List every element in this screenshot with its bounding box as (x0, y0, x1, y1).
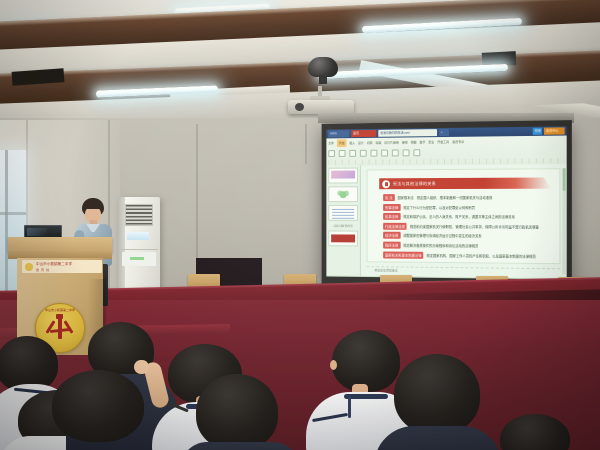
bold-icon[interactable] (349, 150, 356, 157)
row-tag: 行政法律法规 (383, 223, 407, 230)
slide-canvas[interactable]: 宪法与其他法律的关系 宪 法 国家根本法 规定国人组织、根本制度和一切国家机关与… (361, 164, 567, 278)
slide-thumbnail-2[interactable] (328, 186, 358, 202)
font-icon[interactable] (339, 150, 346, 157)
slide-row: 国家机关和基本制度法律 规定国家机构、国家工作人员的产生和职权，以及国家基本制度… (383, 251, 549, 259)
row-tag: 刑事法律 (383, 204, 400, 211)
projector-lens-icon (295, 103, 304, 111)
student-head-7 (332, 330, 400, 392)
ribbon-toolbar-icons (328, 145, 564, 159)
auditorium-photo: WPS 首页 法治与我们的生活.pptx + 登录 会员中心 文件 开始 插入 … (0, 0, 600, 450)
row-tag: 国家机关和基本制度法律 (383, 251, 423, 258)
ribbon-tab-member[interactable]: 会员专享 (452, 138, 464, 146)
ac-status-led (130, 257, 144, 260)
projected-desktop: WPS 首页 法治与我们的生活.pptx + 登录 会员中心 文件 开始 插入 … (326, 126, 566, 279)
ribbon-tab-file[interactable]: 文件 (328, 139, 334, 147)
projection-screen: WPS 首页 法治与我们的生活.pptx + 登录 会员中心 文件 开始 插入 … (322, 120, 572, 292)
audience (0, 318, 600, 450)
student-head-9 (500, 414, 570, 450)
current-slide: 宪法与其他法律的关系 宪 法 国家根本法 规定国人组织、根本制度和一切国家机关与… (367, 168, 561, 264)
slide-thumbnail-1[interactable] (328, 168, 358, 184)
row-text: 规定国家机构、国家工作人员的产生和职权，以及国家基本制度的法律规范 (426, 252, 535, 258)
podium-department: 德 育 处 (36, 268, 72, 272)
student-head-4 (52, 370, 144, 442)
tab-signin[interactable]: 登录 (533, 128, 542, 135)
ribbon-tab-devtools[interactable]: 开发工具 (437, 138, 449, 146)
slide-row: 民事法律 规定和保护公民、法人的人身关系、财产关系，调整平等主体之间的法律关系 (383, 213, 549, 220)
row-tag: 经济法律 (383, 232, 400, 239)
student-head-8 (394, 354, 480, 434)
slide-content-rows: 宪 法 国家根本法 规定国人组织、根本制度和一切国家机关与活动准则 刑事法律 规… (373, 194, 553, 260)
podium-seal-small-icon (25, 263, 33, 271)
student-shoulders-6 (180, 442, 300, 450)
slide-thumbnail-4[interactable] (328, 230, 358, 246)
row-text: 调整国家在管理与协调经济运行过程中发生的经济关系 (403, 233, 481, 238)
row-text: 规范和约束国家机关行使职权、管理社会公共事务，保障公民合法权益不受行政机关侵害 (410, 224, 539, 229)
thumbnail-caption: 法治与我们的生活 (328, 224, 358, 228)
podium-name-plate: 中山市小榄镇第二中学 德 育 处 (22, 260, 102, 273)
editor-body: 法治与我们的生活 宪法与其他法律的关系 宪 法 国家根本法 规定国人组织、根本制… (326, 164, 566, 278)
slide-row: 经济法律 调整国家在管理与协调经济运行过程中发生的经济关系 (383, 232, 549, 240)
slide-row: 行政法律法规 规范和约束国家机关行使职权、管理社会公共事务，保障公民合法权益不受… (383, 223, 549, 231)
slide-row: 宪 法 国家根本法 规定国人组织、根本制度和一切国家机关与活动准则 (383, 194, 549, 201)
ribbon-tab-security[interactable]: 安全 (428, 138, 434, 146)
ribbon-tab-animation[interactable]: 动画 (375, 139, 381, 147)
slide-title: 宪法与其他法律的关系 (393, 181, 436, 187)
tab-new[interactable]: + (439, 129, 449, 136)
find-icon[interactable] (413, 149, 420, 156)
ac-vent-grill-icon (125, 204, 153, 226)
dome-security-camera-icon (306, 57, 340, 87)
slide-title-banner: 宪法与其他法律的关系 (379, 177, 551, 189)
lanyard (348, 396, 351, 418)
slide-thumbnail-panel[interactable]: 法治与我们的生活 (326, 166, 360, 276)
student-head-6 (196, 374, 278, 450)
slide-row: 程序法律 规定解决各类案件的办案程序和诉讼活动的法律规范 (383, 242, 549, 250)
podium-school-name: 中山市小榄镇第二中学 (36, 262, 72, 267)
layout-icon[interactable] (392, 149, 399, 156)
slide-title-badge-icon (382, 180, 390, 188)
tab-membership[interactable]: 会员中心 (544, 127, 565, 134)
align-icon[interactable] (371, 150, 378, 157)
ribbon: 文件 开始 插入 设计 切换 动画 幻灯片放映 审阅 视图 章节 安全 开发工具… (326, 136, 566, 166)
list-icon[interactable] (381, 150, 388, 157)
ribbon-tab-section[interactable]: 章节 (419, 138, 425, 146)
row-tag: 宪 法 (383, 194, 394, 201)
ribbon-tab-review[interactable]: 审阅 (402, 138, 408, 146)
row-text: 国家根本法 规定国人组织、根本制度和一切国家机关与活动准则 (397, 195, 492, 200)
tab-wps[interactable]: WPS (328, 130, 349, 137)
ribbon-tab-slideshow[interactable]: 幻灯片放映 (384, 139, 399, 147)
tab-home[interactable]: 首页 (351, 130, 376, 137)
ribbon-tab-insert[interactable]: 插入 (349, 139, 355, 147)
arrange-icon[interactable] (403, 149, 410, 156)
ribbon-tab-design[interactable]: 设计 (358, 139, 364, 147)
ceiling-projector-icon (288, 86, 354, 114)
paste-icon[interactable] (328, 150, 335, 157)
shape-icon[interactable] (360, 150, 367, 157)
ribbon-tab-transition[interactable]: 切换 (367, 139, 373, 147)
slide-row: 刑事法律 规定了什么行为是犯罪，以及对犯罪处以何种刑罚 (383, 204, 549, 211)
row-tag: 民事法律 (383, 213, 400, 220)
ribbon-tab-view[interactable]: 视图 (411, 138, 417, 146)
slide-thumbnail-3[interactable] (328, 205, 358, 221)
tab-active-document[interactable]: 法治与我们的生活.pptx (378, 129, 437, 137)
row-text: 规定了什么行为是犯罪，以及对犯罪处以何种刑罚 (403, 205, 475, 210)
floor-standing-air-conditioner (118, 197, 160, 302)
raised-hand (134, 360, 149, 374)
emblem-text: 中山市小榄镇第二中学 (36, 308, 84, 312)
canvas-scrollbar[interactable] (563, 168, 566, 274)
ribbon-tab-start[interactable]: 开始 (337, 139, 347, 147)
row-tag: 程序法律 (383, 242, 400, 249)
row-text: 规定和保护公民、法人的人身关系、财产关系，调整平等主体之间的法律关系 (403, 214, 515, 219)
row-text: 规定解决各类案件的办案程序和诉讼活动的法律规范 (403, 243, 478, 249)
